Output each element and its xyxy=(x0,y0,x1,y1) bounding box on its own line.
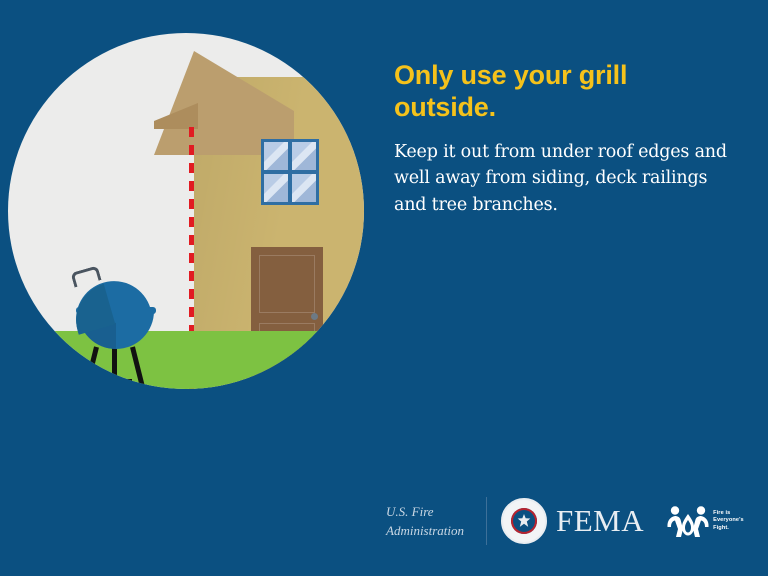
door-panel-top xyxy=(259,255,315,313)
two-figures-flame-icon xyxy=(666,504,710,538)
door-knob xyxy=(311,313,318,320)
body-text: Keep it out from under roof edges and we… xyxy=(394,139,734,218)
footer-divider xyxy=(486,497,487,545)
window-pane xyxy=(292,142,316,170)
grill-leg-brace xyxy=(98,379,132,383)
message-block: Only use your grill outside. Keep it out… xyxy=(394,60,734,218)
feef-line-1: Fire is xyxy=(713,510,744,517)
grill-beside-house-illustration xyxy=(8,33,364,389)
usfa-line-2: Administration xyxy=(386,521,478,541)
window-pane xyxy=(292,174,316,202)
window-pane-grid xyxy=(264,142,316,202)
fire-is-everyones-fight-logo: Fire is Everyone's Fight. xyxy=(666,504,744,538)
poster-canvas: Only use your grill outside. Keep it out… xyxy=(0,0,768,576)
usfa-logo: U.S. Fire Administration xyxy=(386,502,478,541)
background-circle xyxy=(8,33,364,389)
footer-logos: U.S. Fire Administration FEMA Fire is Ev… xyxy=(386,488,746,554)
feef-line-2: Everyone's xyxy=(713,517,744,524)
usfa-line-1: U.S. Fire xyxy=(386,502,478,522)
dhs-seal-icon xyxy=(501,498,547,544)
page-title: Only use your grill outside. xyxy=(394,60,734,123)
window-pane xyxy=(264,142,288,170)
feef-line-3: Fight. xyxy=(713,525,744,532)
grill-leg xyxy=(81,346,98,389)
house-window xyxy=(261,139,319,205)
window-pane xyxy=(264,174,288,202)
fema-wordmark: FEMA xyxy=(556,503,644,539)
fire-is-everyones-fight-text: Fire is Everyone's Fight. xyxy=(713,510,744,532)
charcoal-grill xyxy=(68,269,164,389)
grass-strip xyxy=(8,331,364,389)
grill-leg xyxy=(130,346,147,389)
